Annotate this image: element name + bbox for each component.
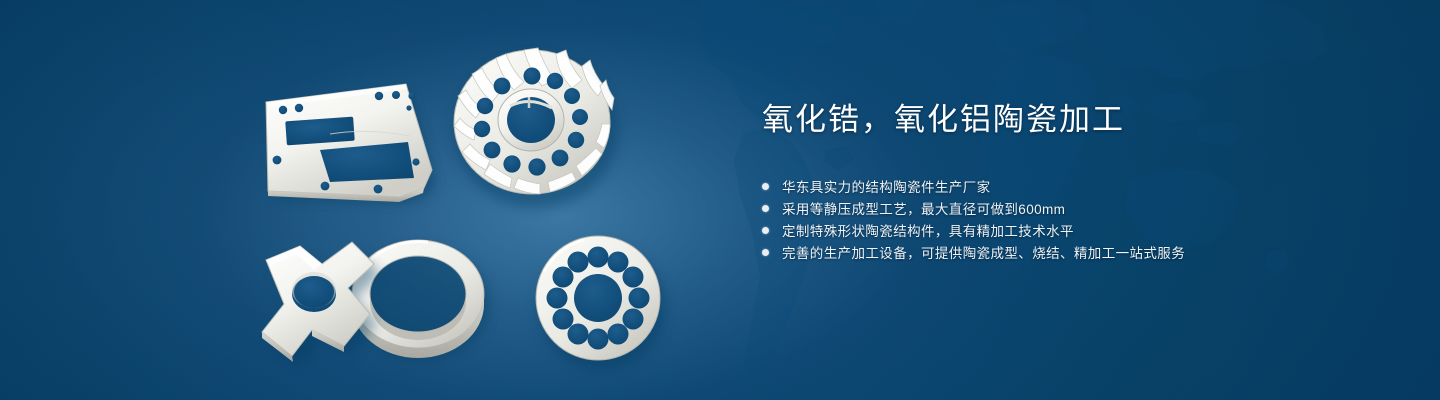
hero-banner: 氧化锆，氧化铝陶瓷加工 华东具实力的结构陶瓷件生产厂家 采用等静压成型工艺，最大…: [0, 0, 1440, 400]
ceramic-vaned-impeller: [454, 48, 618, 208]
banner-copy: 氧化锆，氧化铝陶瓷加工 华东具实力的结构陶瓷件生产厂家 采用等静压成型工艺，最大…: [762, 104, 1382, 263]
ceramic-products-collage: [0, 0, 720, 400]
feature-text: 华东具实力的结构陶瓷件生产厂家: [782, 176, 991, 196]
feature-text: 采用等静压成型工艺，最大直径可做到600mm: [782, 198, 1065, 218]
feature-text: 完善的生产加工设备，可提供陶瓷成型、烧结、精加工一站式服务: [782, 242, 1185, 262]
ceramic-perforated-disc: [536, 236, 666, 370]
ceramic-machined-plate: [266, 84, 435, 203]
feature-text: 定制特殊形状陶瓷结构件，具有精加工技术水平: [782, 220, 1074, 240]
page-title: 氧化锆，氧化铝陶瓷加工: [762, 104, 1382, 135]
ceramic-ring: [352, 240, 490, 360]
list-item: 采用等静压成型工艺，最大直径可做到600mm: [762, 197, 1382, 219]
bullet-dot-icon: [762, 205, 769, 212]
list-item: 华东具实力的结构陶瓷件生产厂家: [762, 175, 1382, 197]
list-item: 完善的生产加工设备，可提供陶瓷成型、烧结、精加工一站式服务: [762, 241, 1382, 263]
bullet-dot-icon: [762, 249, 769, 256]
bullet-dot-icon: [762, 227, 769, 234]
feature-list: 华东具实力的结构陶瓷件生产厂家 采用等静压成型工艺，最大直径可做到600mm 定…: [762, 175, 1382, 263]
bullet-dot-icon: [762, 183, 769, 190]
list-item: 定制特殊形状陶瓷结构件，具有精加工技术水平: [762, 219, 1382, 241]
